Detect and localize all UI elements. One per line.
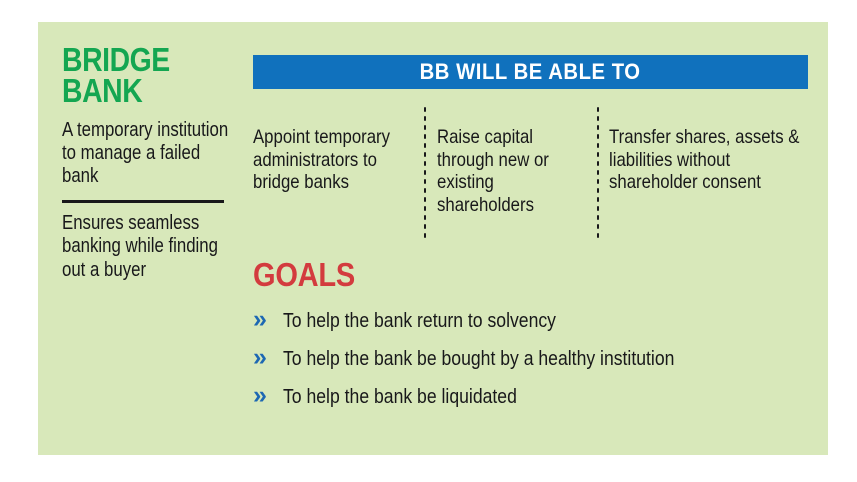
- list-item: » To help the bank be bought by a health…: [253, 345, 808, 370]
- bridge-bank-definition: A temporary institution to manage a fail…: [62, 119, 238, 189]
- ability-text: Appoint temporary administrators to brid…: [253, 126, 417, 194]
- page-title: BRIDGE BANK: [62, 44, 215, 107]
- goal-text: To help the bank be liquidated: [283, 386, 517, 408]
- bridge-bank-note: Ensures seamless banking while finding o…: [62, 212, 238, 282]
- divider-rule: [62, 200, 224, 203]
- ability-text: Transfer shares, assets & liabilities wi…: [609, 126, 807, 194]
- double-chevron-icon: »: [253, 307, 283, 332]
- infographic-panel: BRIDGE BANK A temporary institution to m…: [38, 22, 828, 455]
- right-column: BB WILL BE ABLE TO Appoint temporary adm…: [253, 55, 808, 408]
- ability-item: Raise capital through new or existing sh…: [437, 103, 590, 240]
- abilities-banner-label: BB WILL BE ABLE TO: [420, 55, 641, 89]
- dotted-divider-icon: [423, 105, 427, 240]
- ability-item: Appoint temporary administrators to brid…: [253, 103, 417, 217]
- goals-heading: GOALS: [253, 256, 741, 294]
- ability-text: Raise capital through new or existing sh…: [437, 126, 589, 217]
- goal-text: To help the bank be bought by a healthy …: [283, 348, 674, 370]
- goal-text: To help the bank return to solvency: [283, 310, 556, 332]
- abilities-row: Appoint temporary administrators to brid…: [253, 103, 808, 240]
- ability-item: Transfer shares, assets & liabilities wi…: [609, 103, 808, 217]
- double-chevron-icon: »: [253, 383, 283, 408]
- double-chevron-icon: »: [253, 345, 283, 370]
- left-column: BRIDGE BANK A temporary institution to m…: [62, 44, 240, 282]
- dotted-divider-icon: [596, 105, 600, 240]
- list-item: » To help the bank be liquidated: [253, 383, 808, 408]
- abilities-banner: BB WILL BE ABLE TO: [253, 55, 808, 89]
- list-item: » To help the bank return to solvency: [253, 307, 808, 332]
